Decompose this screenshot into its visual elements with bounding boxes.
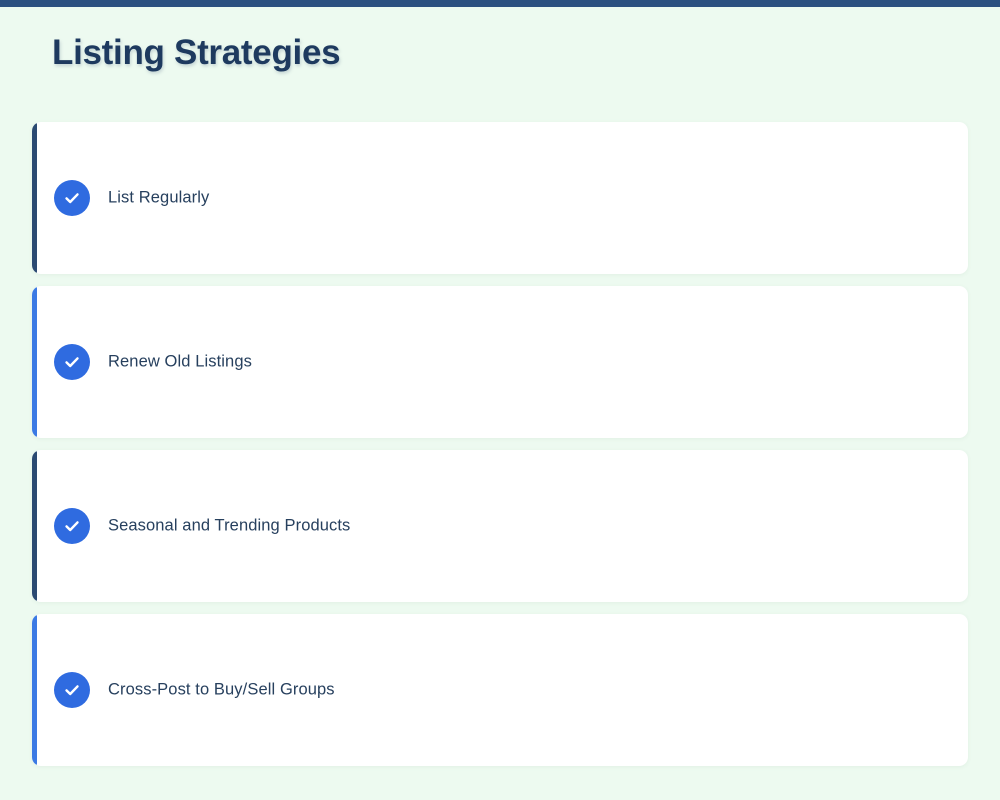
check-circle-icon	[54, 180, 90, 216]
strategy-card-list: List Regularly Renew Old Listings Season…	[32, 122, 968, 766]
check-circle-icon	[54, 508, 90, 544]
card-label: Renew Old Listings	[108, 353, 252, 372]
card-accent-bar	[32, 286, 37, 438]
strategy-card[interactable]: Renew Old Listings	[32, 286, 968, 438]
card-label: Cross-Post to Buy/Sell Groups	[108, 681, 335, 700]
page-title: Listing Strategies	[52, 33, 340, 73]
card-label: List Regularly	[108, 189, 209, 208]
strategy-card[interactable]: Seasonal and Trending Products	[32, 450, 968, 602]
top-accent-bar	[0, 0, 1000, 7]
card-accent-bar	[32, 122, 37, 274]
strategy-card[interactable]: Cross-Post to Buy/Sell Groups	[32, 614, 968, 766]
card-accent-bar	[32, 450, 37, 602]
strategy-card[interactable]: List Regularly	[32, 122, 968, 274]
card-label: Seasonal and Trending Products	[108, 517, 350, 536]
check-circle-icon	[54, 672, 90, 708]
check-circle-icon	[54, 344, 90, 380]
card-accent-bar	[32, 614, 37, 766]
